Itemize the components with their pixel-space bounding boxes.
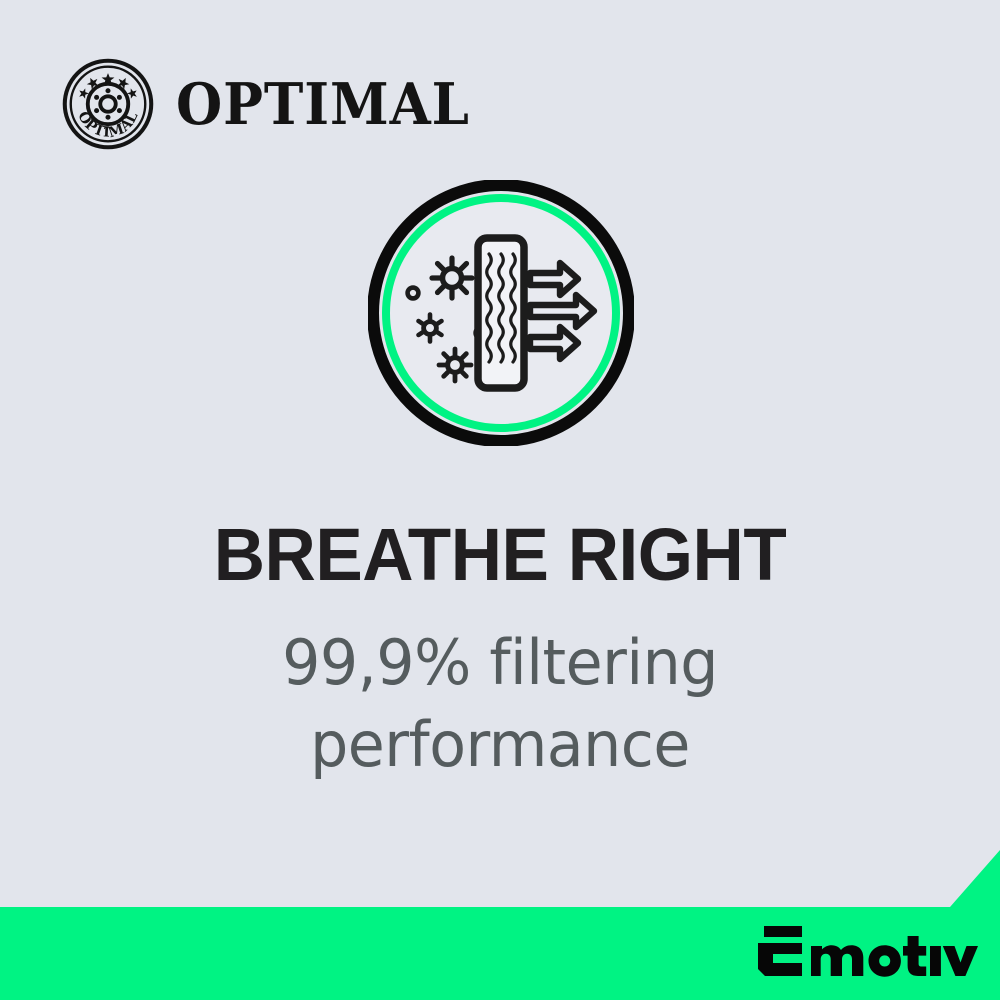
footer-band: [0, 850, 1000, 1000]
subheadline-line-2: performance: [15, 704, 985, 786]
optimal-seal-icon: OPTIMAL: [62, 58, 154, 150]
headline-block: BREATHE RIGHT: [0, 518, 1000, 592]
air-filter-icon: [368, 180, 634, 446]
page-title: BREATHE RIGHT: [20, 518, 980, 592]
subheadline-block: 99,9% filtering performance: [0, 622, 1000, 786]
brand-wordmark: OPTIMAL: [176, 76, 470, 133]
promo-poster: OPTIMAL OPTIMAL: [0, 0, 1000, 1000]
subheadline-line-1: 99,9% filtering: [15, 622, 985, 704]
emotive-wordmark-icon: [756, 922, 978, 986]
brand-lockup: OPTIMAL OPTIMAL: [62, 58, 492, 150]
pleated-filter-panel: [478, 238, 524, 388]
svg-text:OPTIMAL: OPTIMAL: [74, 109, 141, 141]
